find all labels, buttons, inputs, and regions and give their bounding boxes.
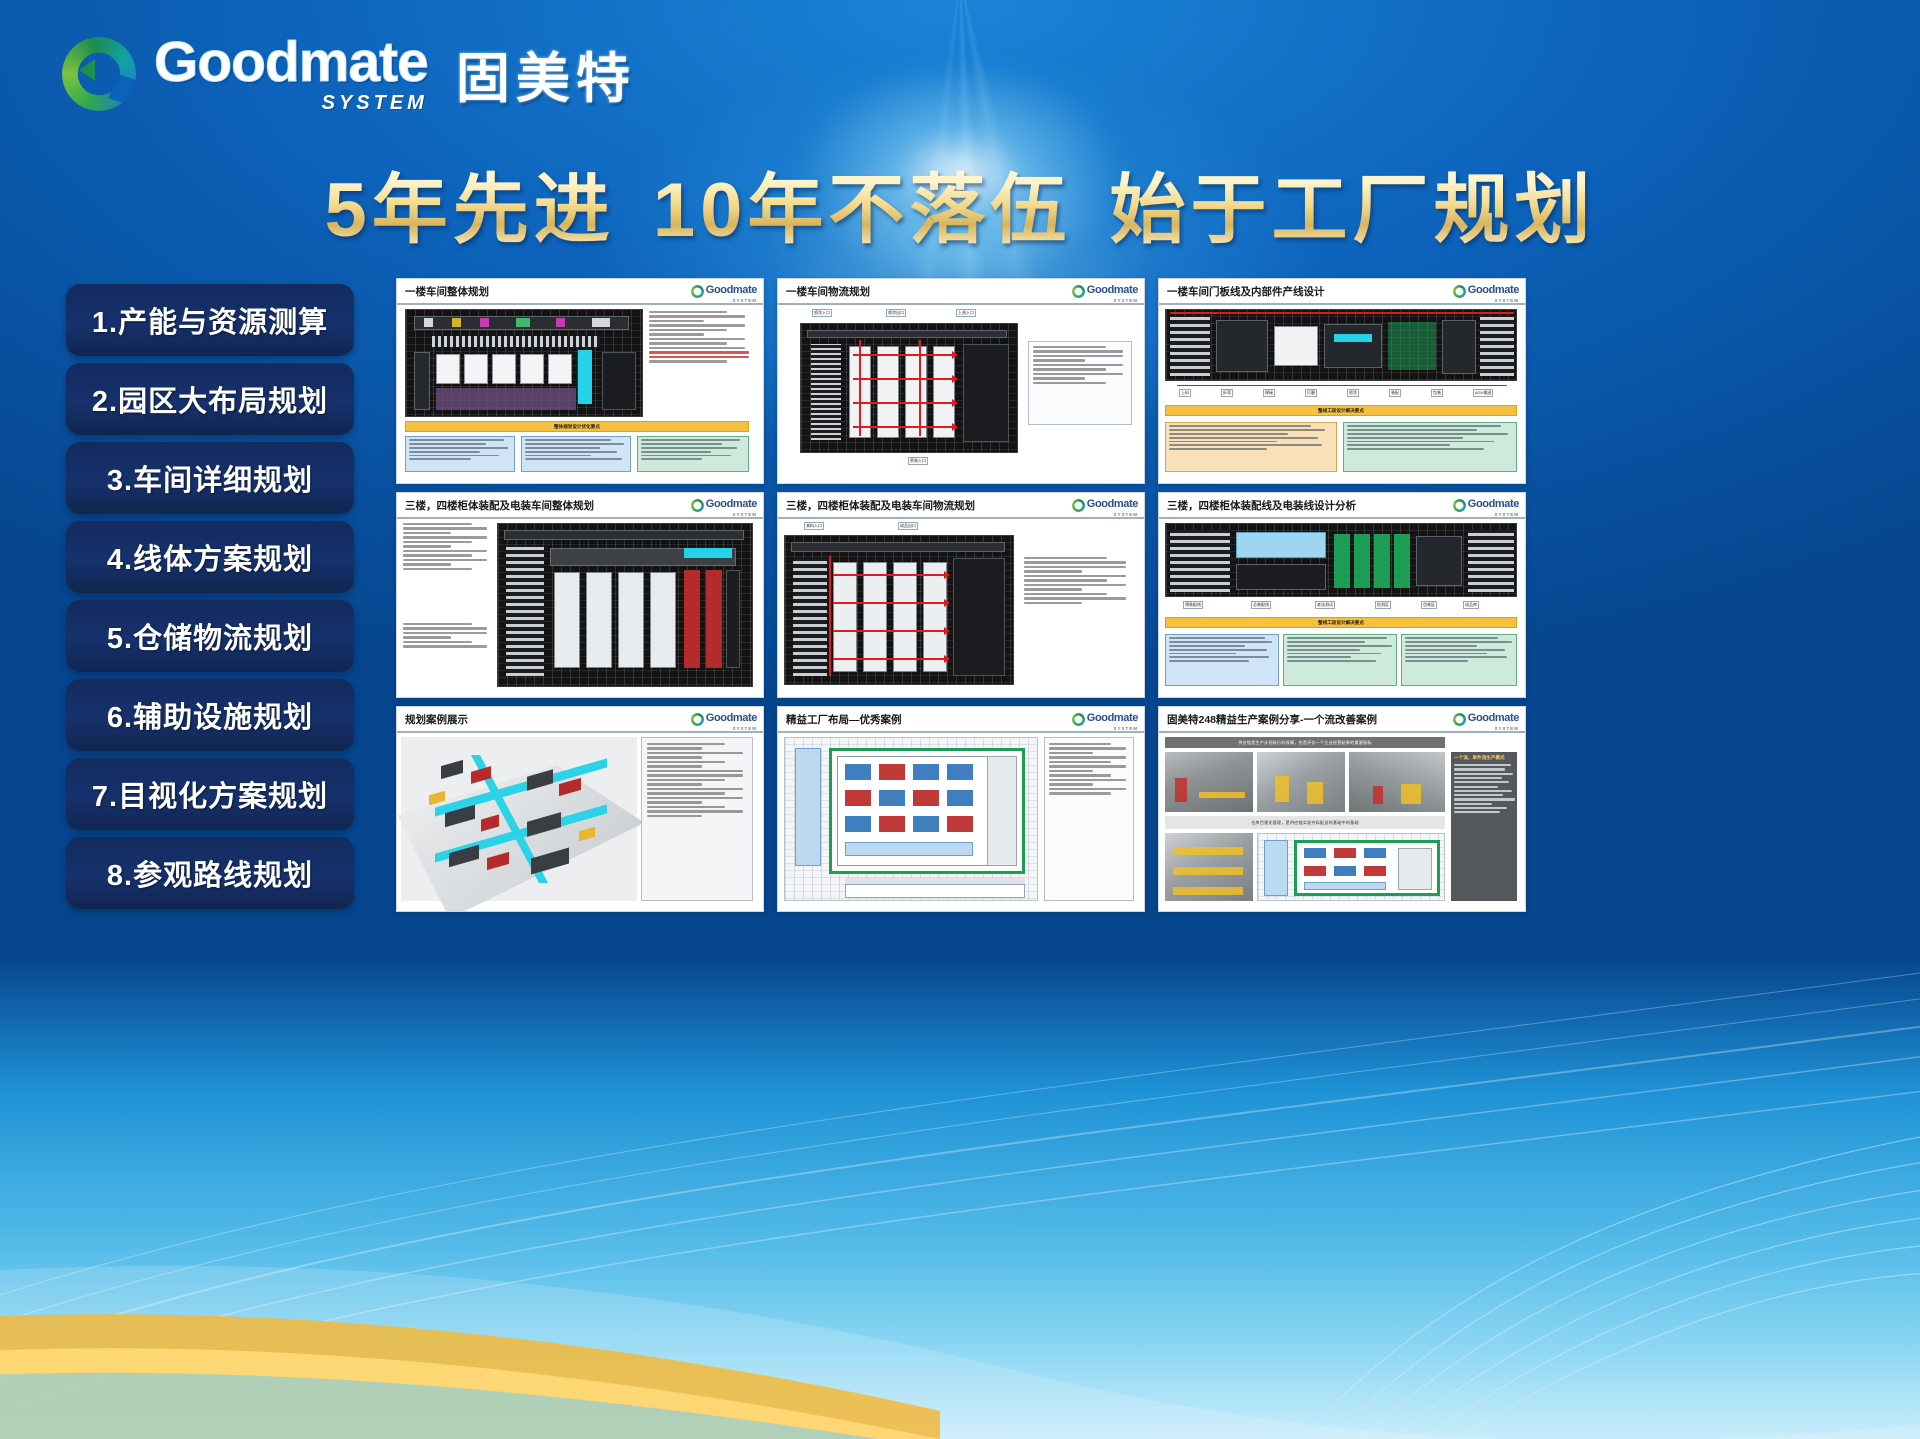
card-notes [647,743,747,819]
flow-label-assembly: 密装入口 [908,457,928,465]
assembly-line-cad [1165,523,1517,597]
card-body: 整体规划设计优化要点 [397,305,763,483]
sidebar-item-3[interactable]: 3.车间详细规划 [66,442,354,514]
goodmate-mini-logo: Goodmate SYSTEM [691,708,757,731]
mini-brand-sub: SYSTEM [1468,726,1519,731]
brand-name-cn: 固美特 [456,34,636,113]
card-body: 喷涂入口 喷涂出口 上线入口 密装入口 [778,305,1144,483]
card-notes-panel [1044,737,1134,901]
sidebar-item-4[interactable]: 4.线体方案规划 [66,521,354,593]
mini-brand-name: Goodmate [706,712,757,724]
mini-brand-name: Goodmate [1087,712,1138,724]
slide-card-1[interactable]: 一楼车间整体规划 Goodmate SYSTEM [396,278,764,484]
goodmate-mini-logo: Goodmate SYSTEM [691,280,757,303]
panel-title: 一个流，单件流生产模式 [1451,752,1517,762]
station-label-3: 老化测试 [1315,601,1335,609]
card-notes [1024,557,1130,606]
card-header: 精益工厂布局—优秀案例 Goodmate SYSTEM [778,707,1144,733]
mini-brand-sub: SYSTEM [1468,512,1519,517]
goodmate-g-icon [691,285,704,298]
station-label-1: 上料 [1179,389,1191,397]
flow-label-in: 来料入口 [804,522,824,530]
card-body: 上料 折弯 焊接 打磨 喷涂 装配 包装 AGV输送 整线工段设计解决要点 [1159,305,1525,483]
mini-brand-name: Goodmate [706,498,757,510]
card-notes-panel [641,737,753,901]
brand-logo: Goodmate SYSTEM 固美特 [62,34,636,113]
goodmate-g-icon [62,37,136,111]
flow-label-out: 喷涂出口 [886,309,906,317]
goodmate-g-icon [1453,285,1466,298]
card-notes [1049,743,1129,797]
layout-thumbnail [1257,833,1445,901]
footer-box-2 [1343,422,1517,472]
production-line-cad [1165,309,1517,381]
factory-cad-layout [405,309,643,417]
card-banner: 整线工段设计解决要点 [1165,617,1517,628]
brand-name: Goodmate [154,34,428,91]
card-header: 固美特248精益生产案例分享-一个流改善案例 Goodmate SYSTEM [1159,707,1525,733]
sidebar-item-1[interactable]: 1.产能与资源测算 [66,284,354,356]
station-label-4: 打磨 [1305,389,1317,397]
station-label-6: 装配 [1389,389,1401,397]
isometric-factory-render [401,737,637,901]
footer-box-3 [1401,634,1517,686]
card-banner: 整线工段设计解决要点 [1165,405,1517,416]
card-body: 来料入口 成品出口 [778,519,1144,697]
mini-brand-sub: SYSTEM [706,726,757,731]
footer-box-1 [405,436,515,472]
slide-card-9[interactable]: 固美特248精益生产案例分享-一个流改善案例 Goodmate SYSTEM 供… [1158,706,1526,912]
card-title: 固美特248精益生产案例分享-一个流改善案例 [1167,712,1377,727]
goodmate-mini-logo: Goodmate SYSTEM [1453,708,1519,731]
card-header: 一楼车间物流规划 Goodmate SYSTEM [778,279,1144,305]
mini-brand-name: Goodmate [1087,498,1138,510]
station-label-2: 折弯 [1221,389,1233,397]
slide-card-2[interactable]: 一楼车间物流规划 Goodmate SYSTEM 喷涂入口 喷涂出口 上线入口 [777,278,1145,484]
card-header: 一楼车间门板线及内部件产线设计 Goodmate SYSTEM [1159,279,1525,305]
logistics-cad-layout [800,323,1018,453]
card-notes [403,523,491,572]
goodmate-g-icon [1072,713,1085,726]
sidebar-item-2[interactable]: 2.园区大布局规划 [66,363,354,435]
mini-brand-sub: SYSTEM [1087,512,1138,517]
caption-mid: 仓库目视化管理，是供应链实现齐料配送的基础中的基础 [1165,816,1445,829]
card-title: 一楼车间整体规划 [405,284,489,299]
brand-wordmark: Goodmate SYSTEM [154,34,428,113]
card-body [397,519,763,697]
swoosh-decoration [0,899,1920,1439]
mini-brand-name: Goodmate [1468,712,1519,724]
footer-box-3 [637,436,749,472]
station-label-3: 焊接 [1263,389,1275,397]
mini-brand-name: Goodmate [1468,498,1519,510]
goodmate-g-icon [691,713,704,726]
sidebar-item-8[interactable]: 8.参观路线规划 [66,837,354,909]
sidebar-nav: 1.产能与资源测算 2.园区大布局规划 3.车间详细规划 4.线体方案规划 5.… [66,284,354,916]
mini-brand-sub: SYSTEM [1087,726,1138,731]
goodmate-g-icon [1453,499,1466,512]
footer-box-1 [1165,422,1337,472]
flow-label-out: 成品出口 [898,522,918,530]
goodmate-g-icon [1453,713,1466,726]
brand-subtitle: SYSTEM [322,93,428,113]
mini-brand-sub: SYSTEM [706,298,757,303]
goodmate-mini-logo: Goodmate SYSTEM [1072,494,1138,517]
page-title: 5年先进 10年不落伍 始于工厂规划 [0,148,1920,258]
card-title: 三楼，四楼柜体装配及电装车间物流规划 [786,498,975,513]
card-header: 三楼，四楼柜体装配线及电装线设计分析 Goodmate SYSTEM [1159,493,1525,519]
goodmate-mini-logo: Goodmate SYSTEM [1453,494,1519,517]
slide-thumbnail-grid: 一楼车间整体规划 Goodmate SYSTEM [396,278,1866,912]
goodmate-mini-logo: Goodmate SYSTEM [691,494,757,517]
card-notes-2 [403,623,491,650]
card-header: 三楼，四楼柜体装配及电装车间物流规划 Goodmate SYSTEM [778,493,1144,519]
card-header: 三楼，四楼柜体装配及电装车间整体规划 Goodmate SYSTEM [397,493,763,519]
mini-brand-sub: SYSTEM [706,512,757,517]
card-header: 一楼车间整体规划 Goodmate SYSTEM [397,279,763,305]
station-label-2: 总装配线 [1251,601,1271,609]
sidebar-item-5[interactable]: 5.仓储物流规划 [66,600,354,672]
card-notes [649,311,749,365]
station-label-8: AGV输送 [1473,389,1493,397]
goodmate-g-icon [1072,499,1085,512]
card-banner: 整体规划设计优化要点 [405,421,749,432]
logistics-cad-layout [784,535,1014,685]
mini-brand-sub: SYSTEM [1087,298,1138,303]
card-notes [1033,346,1127,386]
highlight-panel: 一个流，单件流生产模式 [1451,752,1517,901]
slide-card-3[interactable]: 一楼车间门板线及内部件产线设计 Goodmate SYSTEM 上料 折弯 [1158,278,1526,484]
station-label-7: 包装 [1431,389,1443,397]
slide-card-7[interactable]: 规划案例展示 Goodmate SYSTEM [396,706,764,912]
card-title: 精益工厂布局—优秀案例 [786,712,902,727]
factory-photo-2 [1257,752,1345,812]
assembly-cad-layout [497,523,753,687]
title-part-3: 始于工厂规划 [1110,168,1596,253]
footer-box-1 [1165,634,1279,686]
title-part-2: 10年不落伍 [653,168,1072,253]
card-title: 一楼车间物流规划 [786,284,870,299]
card-title: 规划案例展示 [405,712,468,727]
slide-card-4[interactable]: 三楼，四楼柜体装配及电装车间整体规划 Goodmate SYSTEM [396,492,764,698]
station-label-4: 检测区 [1375,601,1391,609]
caption-top: 供应链是生产计划执行的保障，也是评价一个企业经营结果的重要指标 [1165,737,1445,748]
slide-card-5[interactable]: 三楼，四楼柜体装配及电装车间物流规划 Goodmate SYSTEM 来料入口 … [777,492,1145,698]
title-part-1: 5年先进 [324,168,614,253]
factory-photo-1 [1165,752,1253,812]
slide-card-8[interactable]: 精益工厂布局—优秀案例 Goodmate SYSTEM [777,706,1145,912]
card-body: 预装配线 总装配线 老化测试 检测区 包装区 成品库 整线工段设计解决要点 [1159,519,1525,697]
card-notes-panel [1028,341,1132,425]
station-label-5: 包装区 [1421,601,1437,609]
sidebar-item-7[interactable]: 7.目视化方案规划 [66,758,354,830]
slide-card-6[interactable]: 三楼，四楼柜体装配线及电装线设计分析 Goodmate SYSTEM 预装配线 … [1158,492,1526,698]
card-header: 规划案例展示 Goodmate SYSTEM [397,707,763,733]
mini-brand-name: Goodmate [1087,284,1138,296]
card-body: 供应链是生产计划执行的保障，也是评价一个企业经营结果的重要指标 仓库目视化管理，… [1159,733,1525,911]
flow-label-in: 喷涂入口 [812,309,832,317]
mini-brand-name: Goodmate [1468,284,1519,296]
footer-box-2 [521,436,631,472]
card-title: 三楼，四楼柜体装配及电装车间整体规划 [405,498,594,513]
factory-photo-3 [1349,752,1445,812]
sidebar-item-6[interactable]: 6.辅助设施规划 [66,679,354,751]
lean-layout-drawing [784,737,1038,901]
card-body [778,733,1144,911]
goodmate-mini-logo: Goodmate SYSTEM [1453,280,1519,303]
goodmate-mini-logo: Goodmate SYSTEM [1072,708,1138,731]
goodmate-mini-logo: Goodmate SYSTEM [1072,280,1138,303]
card-title: 一楼车间门板线及内部件产线设计 [1167,284,1325,299]
station-label-1: 预装配线 [1183,601,1203,609]
warehouse-photo [1165,833,1253,901]
station-label-6: 成品库 [1463,601,1479,609]
mini-brand-name: Goodmate [706,284,757,296]
card-body [397,733,763,911]
mini-brand-sub: SYSTEM [1468,298,1519,303]
footer-box-2 [1283,634,1397,686]
goodmate-g-icon [1072,285,1085,298]
flow-label-up: 上线入口 [956,309,976,317]
station-label-5: 喷涂 [1347,389,1359,397]
card-title: 三楼，四楼柜体装配线及电装线设计分析 [1167,498,1356,513]
goodmate-g-icon [691,499,704,512]
